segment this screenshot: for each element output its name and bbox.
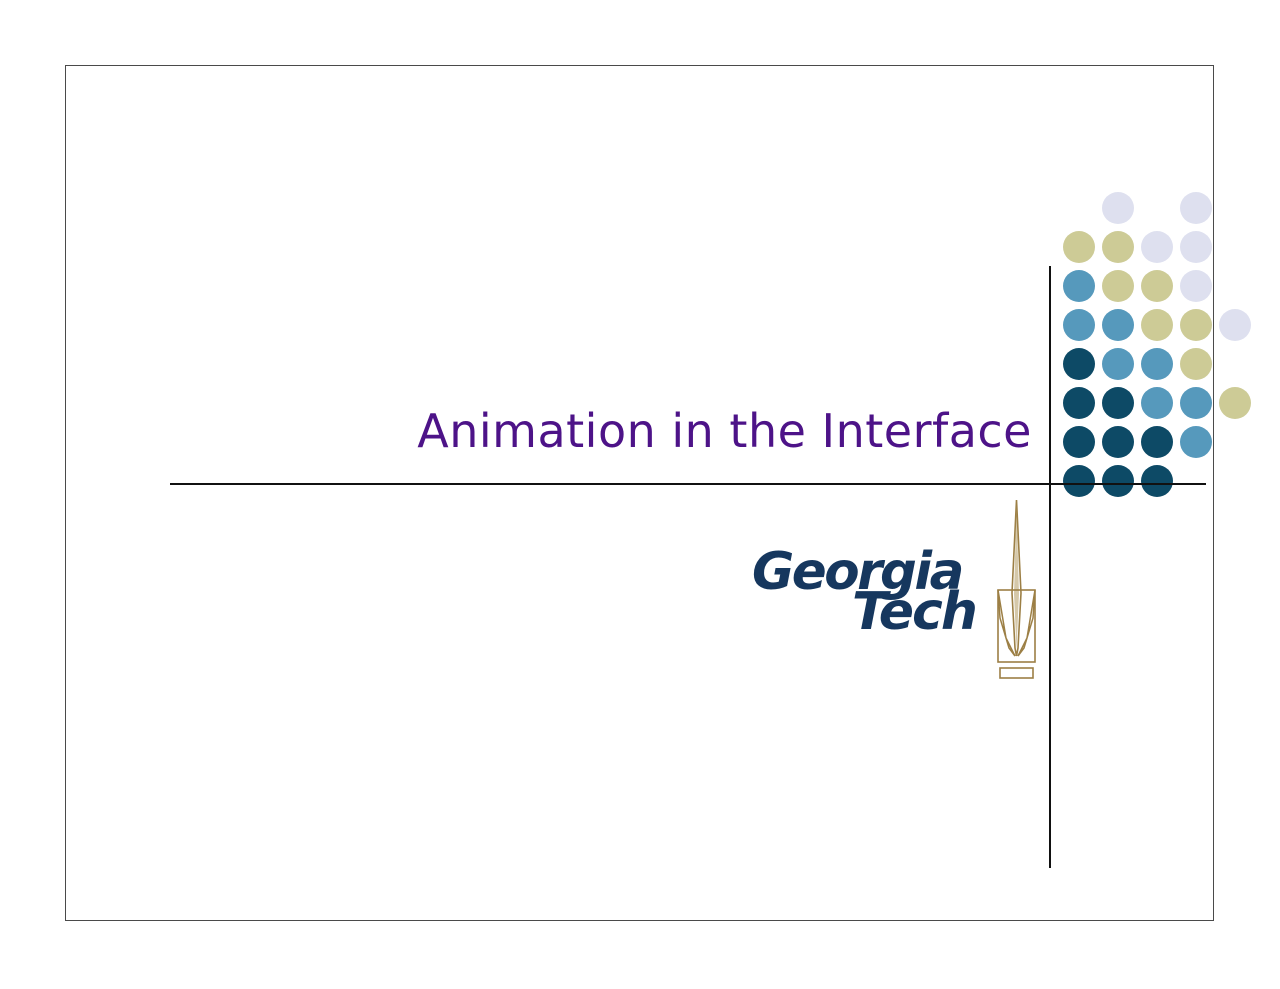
grid-dot <box>1141 270 1173 302</box>
dot-grid-decoration <box>1063 192 1273 482</box>
grid-dot <box>1102 231 1134 263</box>
grid-dot <box>1141 465 1173 497</box>
grid-dot <box>1180 309 1212 341</box>
grid-dot <box>1102 270 1134 302</box>
grid-dot <box>1180 231 1212 263</box>
grid-dot <box>1180 387 1212 419</box>
grid-dot <box>1063 348 1095 380</box>
grid-dot <box>1063 465 1095 497</box>
grid-dot <box>1141 387 1173 419</box>
grid-dot <box>1219 387 1251 419</box>
grid-dot <box>1141 231 1173 263</box>
grid-dot <box>1141 348 1173 380</box>
grid-dot <box>1102 465 1134 497</box>
horizontal-rule <box>170 483 1206 485</box>
grid-dot <box>1180 270 1212 302</box>
slide-title: Animation in the Interface <box>306 402 1032 460</box>
gt-wordmark: Georgia Tech <box>752 546 990 656</box>
grid-dot <box>1102 426 1134 458</box>
grid-dot <box>1063 231 1095 263</box>
slide-frame: Animation in the Interface Georgia Tech <box>65 65 1214 921</box>
grid-dot <box>1180 192 1212 224</box>
grid-dot <box>1102 192 1134 224</box>
grid-dot <box>1141 426 1173 458</box>
grid-dot <box>1063 309 1095 341</box>
grid-dot <box>1219 309 1251 341</box>
gt-torch-icon <box>991 498 1041 688</box>
gt-wordmark-line2: Tech <box>852 586 976 638</box>
grid-dot <box>1063 270 1095 302</box>
georgia-tech-logo: Georgia Tech <box>752 498 1042 688</box>
grid-dot <box>1102 309 1134 341</box>
grid-dot <box>1102 348 1134 380</box>
grid-dot <box>1180 348 1212 380</box>
vertical-rule <box>1049 266 1051 868</box>
grid-dot <box>1102 387 1134 419</box>
grid-dot <box>1063 426 1095 458</box>
grid-dot <box>1180 426 1212 458</box>
grid-dot <box>1063 387 1095 419</box>
grid-dot <box>1141 309 1173 341</box>
